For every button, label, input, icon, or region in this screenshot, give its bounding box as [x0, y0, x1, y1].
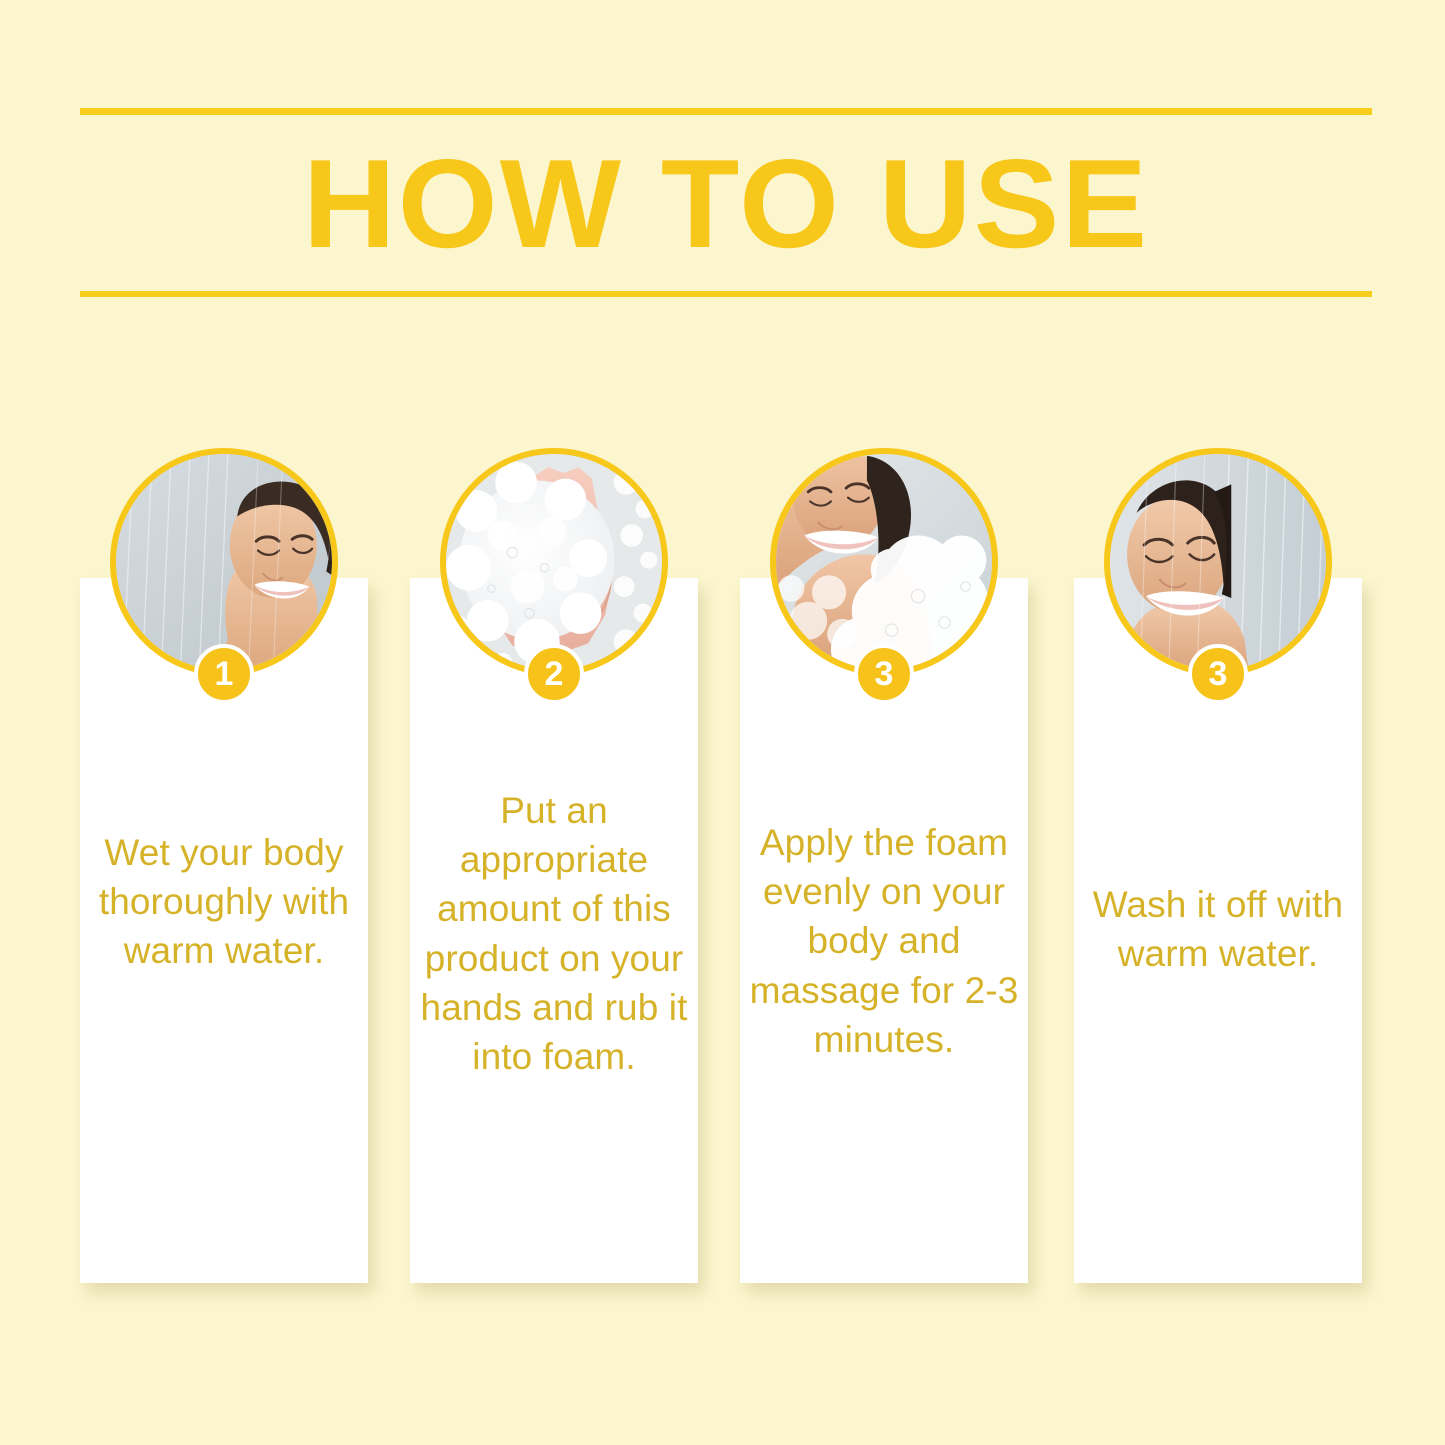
hand-with-foam-photo-icon	[446, 454, 662, 670]
step-card-4: 3 Wash it off with warm water.	[1074, 578, 1362, 1283]
step-image-circle-2	[440, 448, 668, 676]
step-image-wrap-3: 3	[770, 448, 998, 676]
step-number-badge-2: 2	[524, 644, 584, 704]
step-number-badge-4: 3	[1188, 644, 1248, 704]
step-image-wrap-2: 2	[440, 448, 668, 676]
step-image-circle-3	[770, 448, 998, 676]
step-image-wrap-1: 1	[110, 448, 338, 676]
step-text-1: Wet your body thoroughly with warm water…	[84, 828, 364, 976]
step-text-4: Wash it off with warm water.	[1078, 880, 1358, 978]
woman-rinsing-photo-icon	[1110, 454, 1326, 670]
woman-massaging-foam-photo-icon	[776, 454, 992, 670]
step-number-badge-3: 3	[854, 644, 914, 704]
step-text-3: Apply the foam evenly on your body and m…	[744, 818, 1024, 1064]
step-card-1: 1 Wet your body thoroughly with warm wat…	[80, 578, 368, 1283]
shower-woman-photo-icon	[116, 454, 332, 670]
step-image-wrap-4: 3	[1104, 448, 1332, 676]
step-number-badge-1: 1	[194, 644, 254, 704]
step-card-3: 3 Apply the foam evenly on your body and…	[740, 578, 1028, 1283]
steps-container: 1 Wet your body thoroughly with warm wat…	[0, 0, 1445, 1445]
step-image-circle-1	[110, 448, 338, 676]
step-image-circle-4	[1104, 448, 1332, 676]
step-card-2: 2 Put an appropriate amount of this prod…	[410, 578, 698, 1283]
step-text-2: Put an appropriate amount of this produc…	[414, 786, 694, 1081]
